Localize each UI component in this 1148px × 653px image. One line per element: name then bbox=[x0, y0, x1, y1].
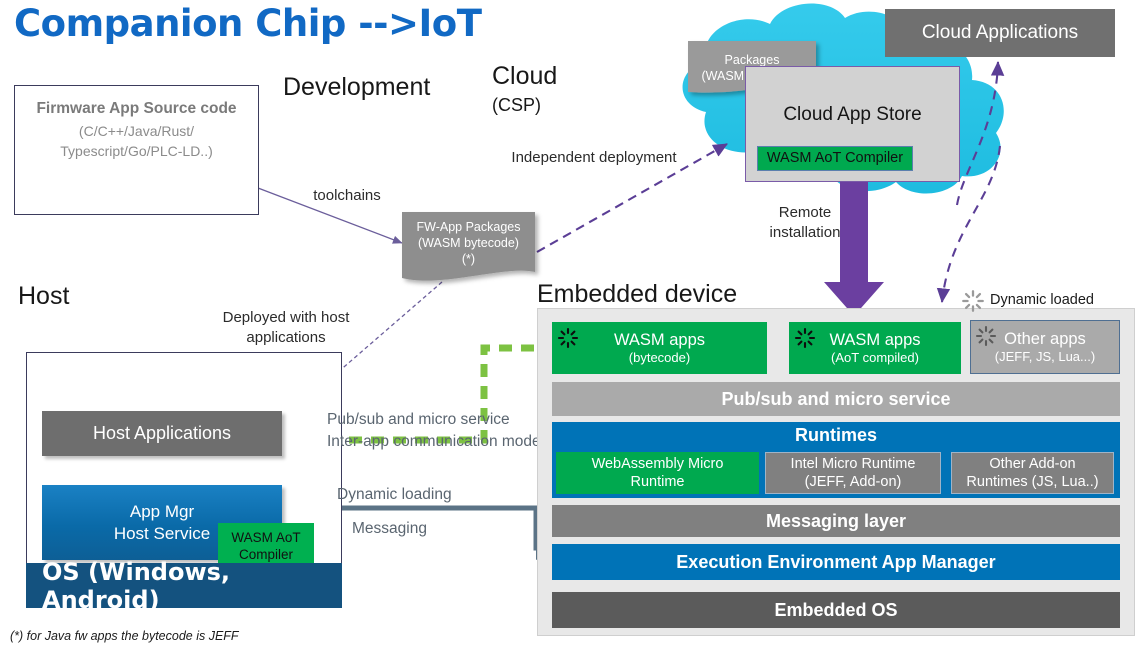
arrow-remote-installation bbox=[824, 178, 884, 316]
spinner-icon-app-1 bbox=[793, 326, 817, 350]
host-packages-label: Packages (WASM) bbox=[210, 379, 314, 409]
host-pkg-line2: (WASM) bbox=[239, 394, 286, 410]
app-2-name: Other apps bbox=[1004, 329, 1086, 350]
label-deployed-with-host-apps: Deployed with host applications bbox=[200, 308, 372, 347]
runtime-0-line1: WebAssembly Micro bbox=[592, 455, 724, 473]
embedded-pubsub-bar: Pub/sub and micro service bbox=[552, 382, 1120, 416]
cloud-applications-label: Cloud Applications bbox=[922, 22, 1078, 44]
app-2-sub: (JEFF, JS, Lua...) bbox=[995, 349, 1095, 365]
app-0-name: WASM apps bbox=[614, 330, 705, 351]
remote-install-line1: Remote bbox=[760, 203, 850, 223]
embedded-pubsub-label: Pub/sub and micro service bbox=[721, 388, 950, 411]
spinner-icon-app-2 bbox=[974, 324, 998, 348]
embedded-messaging-label: Messaging layer bbox=[766, 510, 906, 533]
fw-pkg-line2: (WASM bytecode) bbox=[418, 235, 519, 251]
fw-app-packages-label: FW-App Packages (WASM bytecode) (*) bbox=[402, 214, 535, 272]
label-pubsub-middle: Pub/sub and micro service bbox=[327, 410, 542, 431]
runtime-1-line2: (JEFF, Add-on) bbox=[805, 473, 902, 491]
zone-heading-cloud: Cloud bbox=[492, 62, 557, 91]
remote-install-line2: installation bbox=[760, 223, 850, 243]
embedded-app-wasm-bytecode[interactable]: WASM apps (bytecode) bbox=[552, 322, 767, 374]
embedded-app-manager-bar: Execution Environment App Manager bbox=[552, 544, 1120, 580]
zone-heading-host: Host bbox=[18, 282, 69, 311]
fw-pkg-line1: FW-App Packages bbox=[417, 219, 521, 235]
app-mgr-line1: App Mgr bbox=[130, 501, 194, 522]
deployed-line1: Deployed with host bbox=[200, 308, 372, 328]
source-box-line2: (C/C++/Java/Rust/ bbox=[15, 121, 258, 141]
embedded-runtimes-label: Runtimes bbox=[795, 425, 877, 445]
label-independent-deployment: Independent deployment bbox=[499, 148, 689, 168]
runtime-0-line2: Runtime bbox=[631, 473, 685, 491]
spinner-icon-app-0 bbox=[556, 326, 580, 350]
firmware-source-code-box: Firmware App Source code (C/C++/Java/Rus… bbox=[14, 85, 259, 215]
app-mgr-line2: Host Service bbox=[114, 523, 210, 544]
cloud-wasm-aot-compiler[interactable]: WASM AoT Compiler bbox=[757, 146, 913, 171]
diagram-canvas: Companion Chip -->IoT Development Cloud … bbox=[0, 0, 1148, 653]
cloud-applications-box[interactable]: Cloud Applications bbox=[885, 9, 1115, 57]
source-box-title: Firmware App Source code bbox=[15, 100, 258, 118]
fw-pkg-line3: (*) bbox=[462, 251, 475, 267]
host-aot-line1: WASM AoT bbox=[231, 530, 300, 547]
footnote: (*) for Java fw apps the bytecode is JEF… bbox=[10, 629, 239, 643]
embedded-os-bar: Embedded OS bbox=[552, 592, 1120, 628]
host-pkg-line1: Packages bbox=[235, 378, 290, 394]
host-applications-label: Host Applications bbox=[93, 423, 231, 444]
spinner-icon-legend bbox=[960, 288, 986, 314]
cloud-wasm-aot-compiler-label: WASM AoT Compiler bbox=[767, 149, 903, 167]
host-os-label: OS (Windows, Android) bbox=[42, 558, 342, 614]
embedded-runtime-other[interactable]: Other Add-on Runtimes (JS, Lua..) bbox=[951, 452, 1114, 494]
host-applications-box[interactable]: Host Applications bbox=[42, 411, 282, 456]
cloud-app-store-title: Cloud App Store bbox=[746, 104, 959, 126]
label-toolchains: toolchains bbox=[299, 186, 395, 206]
embedded-runtime-intel[interactable]: Intel Micro Runtime (JEFF, Add-on) bbox=[765, 452, 941, 494]
app-1-sub: (AoT compiled) bbox=[831, 350, 919, 366]
runtime-2-line1: Other Add-on bbox=[989, 455, 1075, 473]
embedded-os-label: Embedded OS bbox=[774, 599, 897, 622]
app-0-sub: (bytecode) bbox=[629, 350, 690, 366]
label-dynamic-loaded: Dynamic loaded bbox=[990, 292, 1094, 308]
zone-heading-embedded-device: Embedded device bbox=[537, 280, 737, 309]
runtime-1-line1: Intel Micro Runtime bbox=[791, 455, 916, 473]
host-os-bar: OS (Windows, Android) bbox=[26, 563, 342, 608]
zone-heading-cloud-sub: (CSP) bbox=[492, 95, 541, 116]
label-remote-installation: Remote installation bbox=[760, 203, 850, 242]
runtime-2-line2: Runtimes (JS, Lua..) bbox=[966, 473, 1098, 491]
embedded-app-manager-label: Execution Environment App Manager bbox=[676, 551, 995, 574]
arrow-to-cloud-applications bbox=[957, 62, 998, 205]
label-dynamic-loading: Dynamic loading bbox=[337, 485, 497, 506]
zone-heading-development: Development bbox=[283, 73, 430, 102]
app-1-name: WASM apps bbox=[829, 330, 920, 351]
source-box-line3: Typescript/Go/PLC-LD..) bbox=[15, 141, 258, 161]
label-messaging: Messaging bbox=[352, 519, 492, 540]
embedded-runtime-wamr[interactable]: WebAssembly Micro Runtime bbox=[556, 452, 759, 494]
deployed-line2: applications bbox=[200, 328, 372, 348]
page-title: Companion Chip -->IoT bbox=[14, 2, 481, 45]
embedded-messaging-bar: Messaging layer bbox=[552, 505, 1120, 537]
